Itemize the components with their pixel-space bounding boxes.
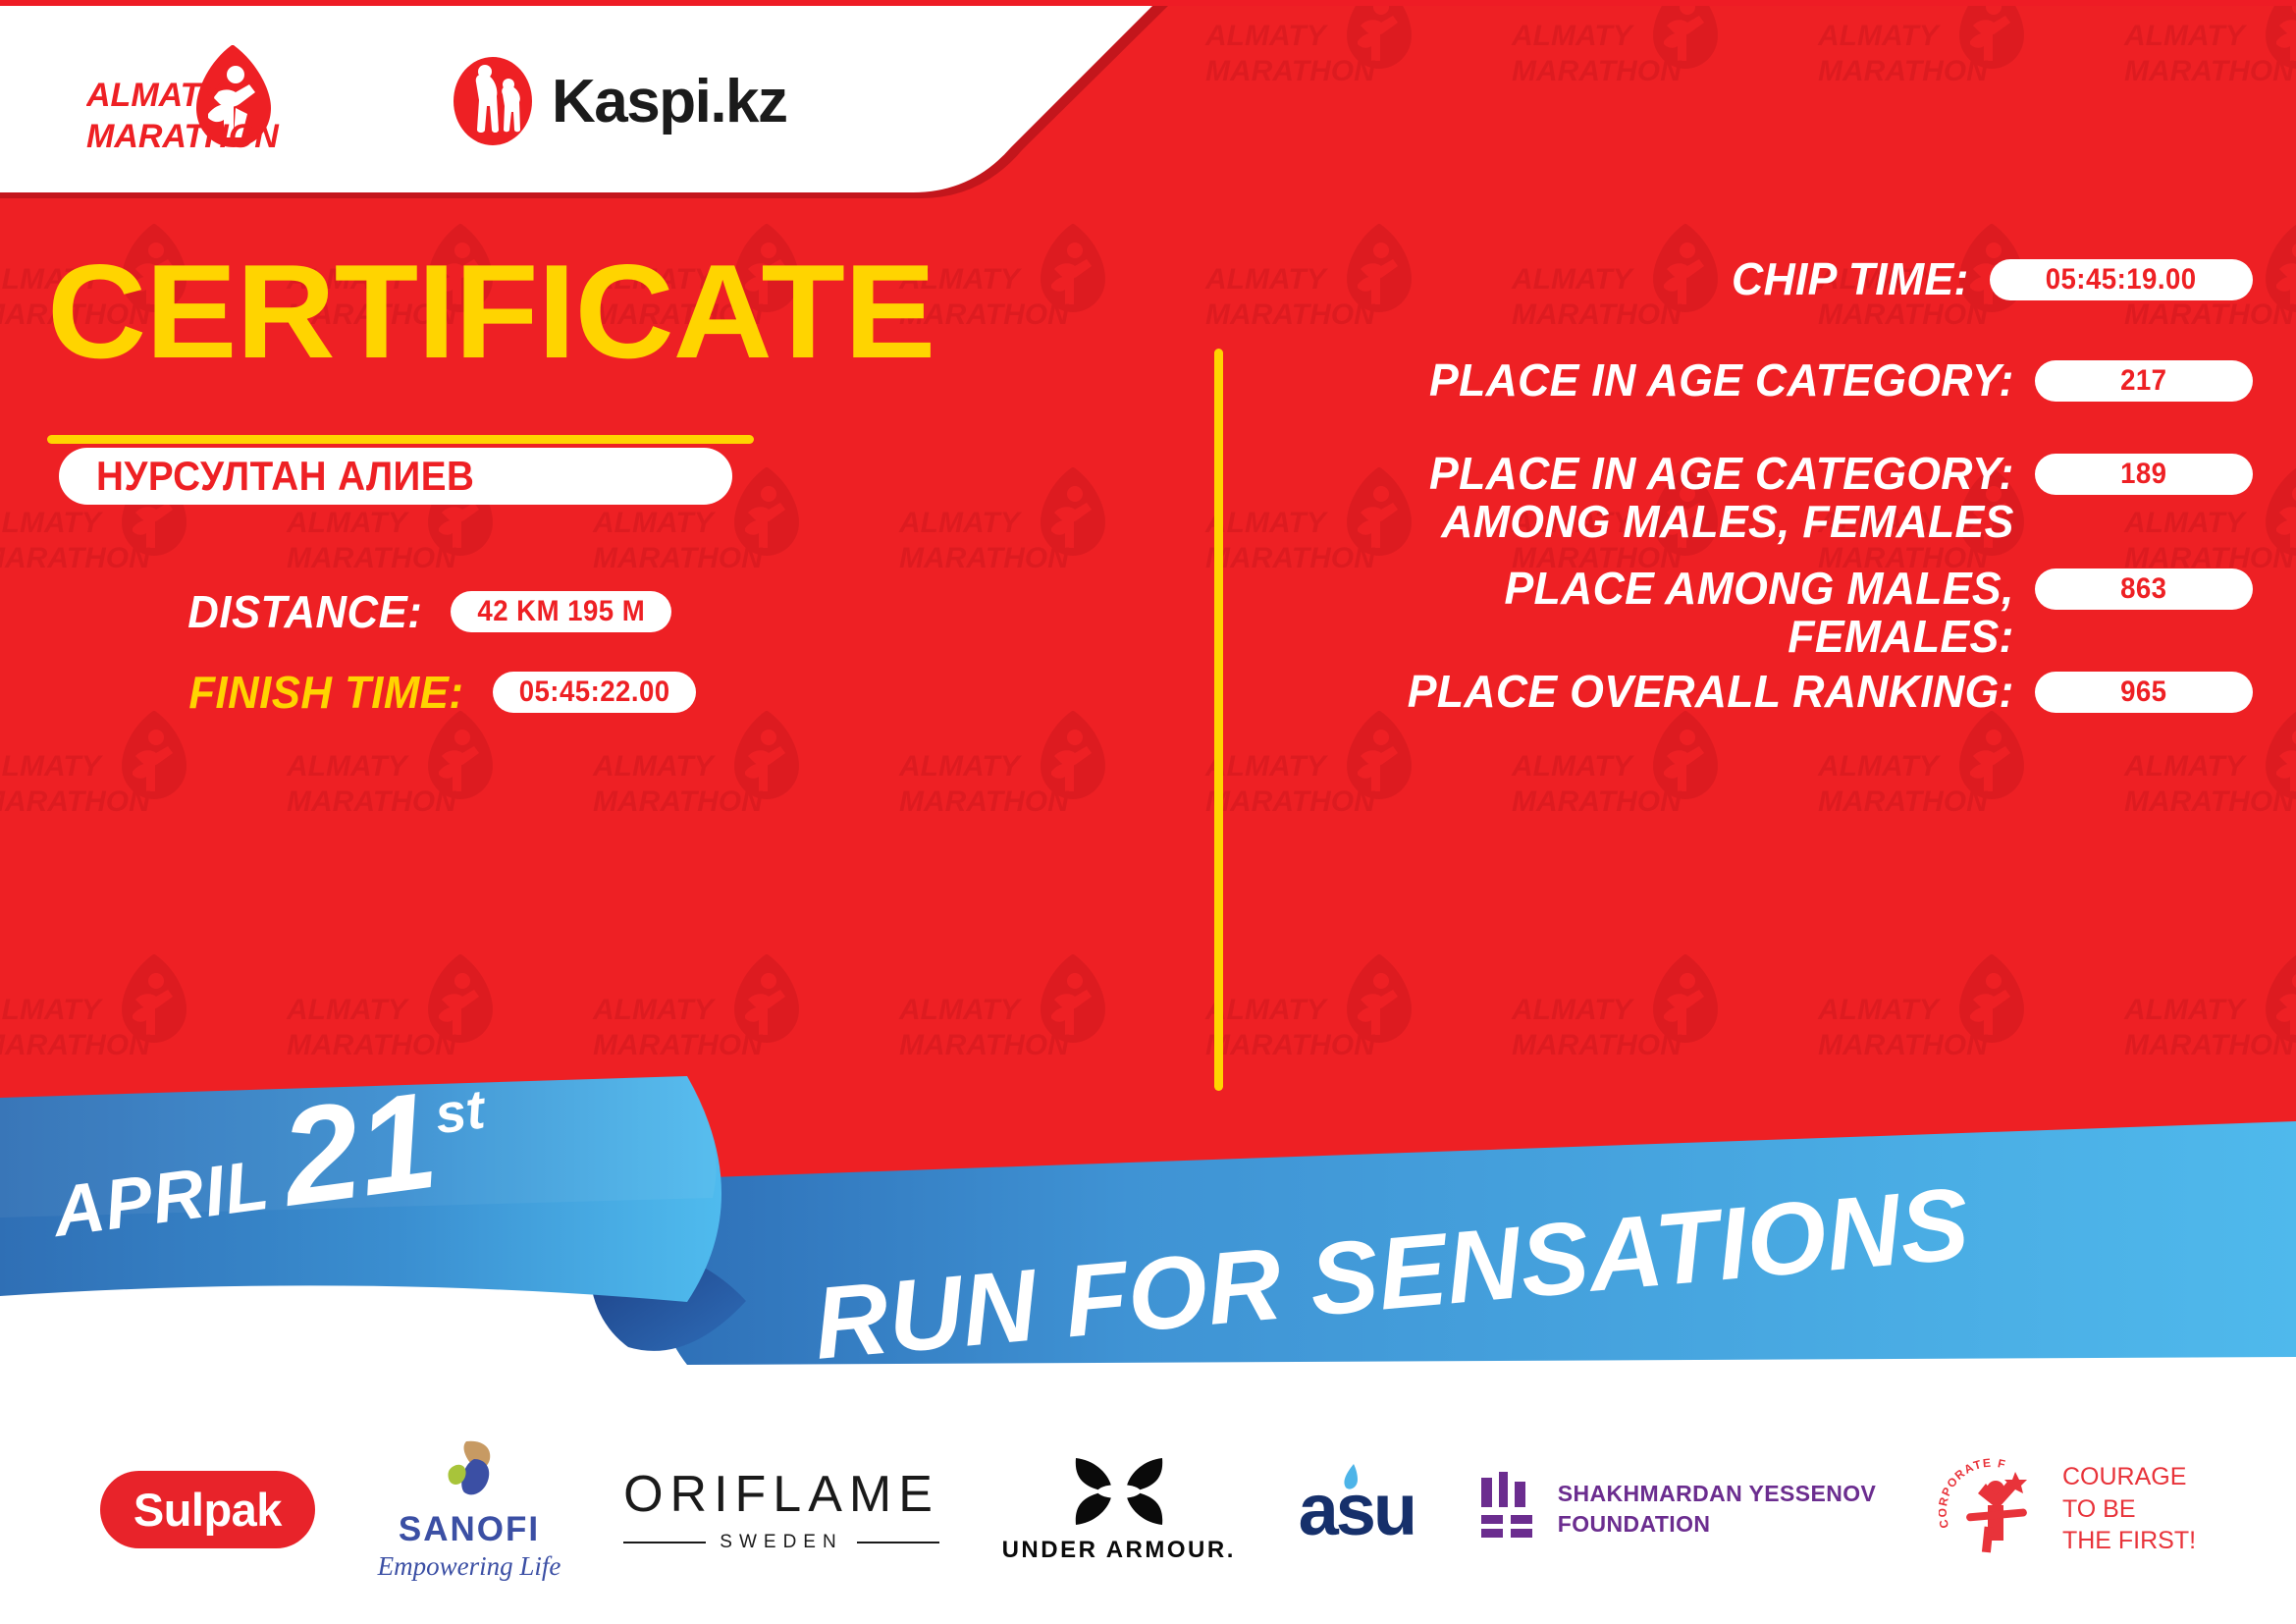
sponsor-under-armour: UNDER ARMOUR. [1002, 1454, 1236, 1564]
logo-line-1: ALMATY [86, 77, 226, 114]
finish-time-value: 05:45:22.00 [518, 676, 669, 709]
age-category-value: 217 [2120, 364, 2166, 398]
finish-time-pill: 05:45:22.00 [493, 672, 696, 713]
distance-row: DISTANCE: 42 KM 195 M [182, 585, 671, 638]
result-row-age-category-gender: PLACE IN AGE CATEGORY: AMONG MALES, FEMA… [1266, 450, 2253, 546]
sponsor-bar: Sulpak SANOFI Empowering Life ORIFLAME S… [0, 1394, 2296, 1624]
courage-fund-slogan: COURAGE TO BE THE FIRST! [2062, 1461, 2196, 1557]
sulpak-wordmark: Sulpak [133, 1484, 282, 1536]
event-month: APRIL [48, 1145, 274, 1253]
page-title: CERTIFICATE [47, 244, 934, 378]
header-logos: ALMATY MARATHON Kaspi.kz [0, 0, 1080, 192]
distance-label: DISTANCE: [187, 585, 422, 638]
distance-value: 42 KM 195 M [477, 595, 645, 628]
yessenov-wordmark: SHAKHMARDAN YESSENOV FOUNDATION [1558, 1479, 1877, 1540]
sulpak-logo: Sulpak [100, 1471, 315, 1548]
among-gender-pill: 863 [2035, 568, 2253, 610]
logo-line-2: MARATHON [86, 118, 280, 155]
asu-wordmark: asu [1299, 1468, 1415, 1551]
yessenov-mark-icon [1477, 1472, 1538, 1546]
among-gender-label: PLACE AMONG MALES, FEMALES: [1289, 565, 2035, 661]
participant-name-field: НУРСУЛТАН АЛИЕВ [59, 448, 732, 505]
chip-time-value: 05:45:19.00 [2046, 263, 2197, 297]
sponsor-sanofi: SANOFI Empowering Life [378, 1437, 561, 1582]
oriflame-wordmark: ORIFLAME [623, 1465, 939, 1524]
kaspi-logo: Kaspi.kz [452, 57, 787, 145]
result-row-age-category: PLACE IN AGE CATEGORY: 217 [1266, 356, 2253, 405]
top-red-rule [0, 0, 2296, 6]
age-category-label: PLACE IN AGE CATEGORY: [1289, 356, 2035, 405]
sponsor-asu: asu [1299, 1468, 1415, 1551]
sponsor-oriflame: ORIFLAME SWEDEN [623, 1465, 939, 1553]
oriflame-rule-right [857, 1542, 939, 1543]
result-row-chip-time: CHIP TIME: 05:45:19.00 [1266, 255, 2253, 303]
finish-time-label: FINISH TIME: [188, 666, 463, 719]
participant-name: НУРСУЛТАН АЛИЕВ [96, 453, 474, 500]
oriflame-subline: SWEDEN [623, 1532, 939, 1553]
age-category-gender-pill: 189 [2035, 454, 2253, 495]
overall-ranking-value: 965 [2120, 676, 2166, 709]
sanofi-wordmark: SANOFI [399, 1510, 540, 1549]
certificate-page: ALMATY MARATHON Kaspi.kz CERTIFICATE НУР… [0, 0, 2296, 1624]
under-armour-mark-icon [1060, 1454, 1178, 1529]
overall-ranking-label: PLACE OVERALL RANKING: [1289, 668, 2035, 716]
chip-time-label: CHIP TIME: [1288, 255, 1990, 303]
event-day-suffix: st [431, 1076, 488, 1146]
result-row-among-gender: PLACE AMONG MALES, FEMALES: 863 [1266, 565, 2253, 661]
sponsor-sulpak: Sulpak [100, 1471, 315, 1548]
finish-time-row: FINISH TIME: 05:45:22.00 [182, 666, 696, 719]
sponsor-courage-fund: CORPORATE FUND COURAGE TO BE THE FIRST! [1939, 1454, 2196, 1564]
event-day: 21 [275, 1078, 443, 1220]
oriflame-country: SWEDEN [720, 1532, 842, 1553]
sanofi-mark-icon [431, 1437, 507, 1508]
age-category-gender-label: PLACE IN AGE CATEGORY: AMONG MALES, FEMA… [1289, 450, 2035, 546]
courage-fund-mark-icon: CORPORATE FUND [1939, 1454, 2049, 1564]
age-category-pill: 217 [2035, 360, 2253, 402]
column-divider [1214, 349, 1223, 1091]
age-category-gender-value: 189 [2120, 458, 2166, 491]
among-gender-value: 863 [2120, 572, 2166, 606]
oriflame-rule-left [623, 1542, 706, 1543]
sponsor-yessenov-foundation: SHAKHMARDAN YESSENOV FOUNDATION [1477, 1472, 1877, 1546]
overall-ranking-pill: 965 [2035, 672, 2253, 713]
kaspi-wordmark: Kaspi.kz [552, 67, 787, 136]
sanofi-tagline: Empowering Life [378, 1551, 561, 1582]
asu-droplet-icon [1340, 1462, 1362, 1491]
distance-pill: 42 KM 195 M [451, 591, 672, 632]
under-armour-wordmark: UNDER ARMOUR. [1002, 1537, 1236, 1564]
left-column: CERTIFICATE НУРСУЛТАН АЛИЕВ DISTANCE: 42… [0, 192, 1217, 1106]
kaspi-mark-icon [452, 57, 534, 145]
result-row-overall: PLACE OVERALL RANKING: 965 [1266, 668, 2253, 716]
chip-time-pill: 05:45:19.00 [1990, 259, 2253, 300]
title-underline [47, 435, 754, 444]
almaty-marathon-logo: ALMATY MARATHON [86, 39, 312, 157]
